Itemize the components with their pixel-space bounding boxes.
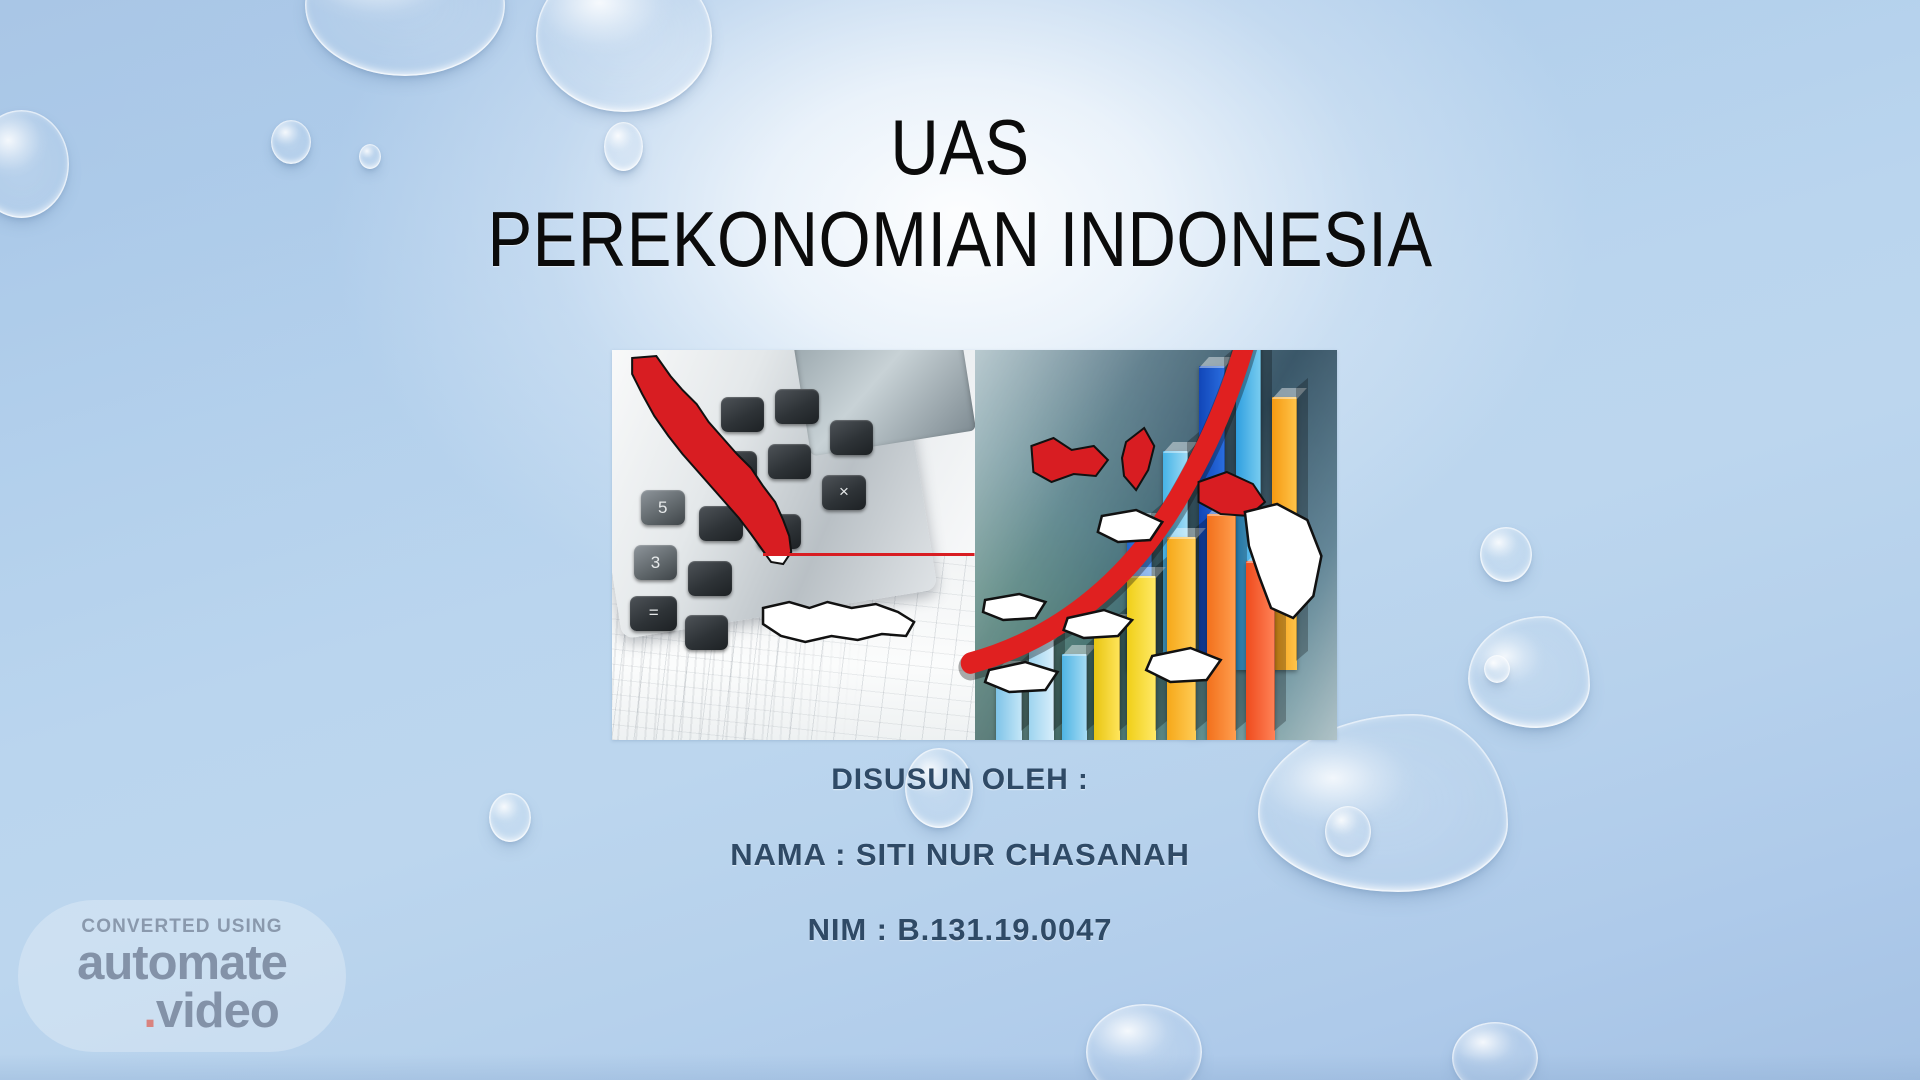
watermark-domain-text: video [156,987,279,1036]
title-line-2: PEREKONOMIAN INDONESIA [134,200,1785,278]
water-droplet [1484,655,1510,683]
slide-title-block: UAS PEREKONOMIAN INDONESIA [0,108,1920,278]
indonesia-map-right [975,350,1338,740]
water-droplet [1452,1022,1538,1080]
automate-video-watermark: CONVERTED USING automate . video [18,900,346,1052]
watermark-dot: . [143,987,156,1036]
water-droplet [1480,527,1532,582]
title-line-1: UAS [134,108,1785,186]
watermark-domain-row: . video [143,987,279,1036]
prepared-by-label: DISUSUN OLEH : [0,765,1920,795]
water-droplet [305,0,505,76]
indonesia-map-left [612,350,975,740]
calculator-scene: % × 5 − 3 = [612,350,975,740]
bar-chart-scene [975,350,1338,740]
water-droplet [536,0,712,112]
author-name: NAMA : SITI NUR CHASANAH [0,839,1920,870]
watermark-top-label: CONVERTED USING [81,916,282,938]
water-droplet [1086,1004,1202,1080]
water-blob [1468,616,1590,728]
hero-illustration: % × 5 − 3 = [612,350,1337,740]
watermark-brand: automate [77,940,287,987]
presentation-slide: UAS PEREKONOMIAN INDONESIA % × 5 − 3 = [0,0,1920,1080]
